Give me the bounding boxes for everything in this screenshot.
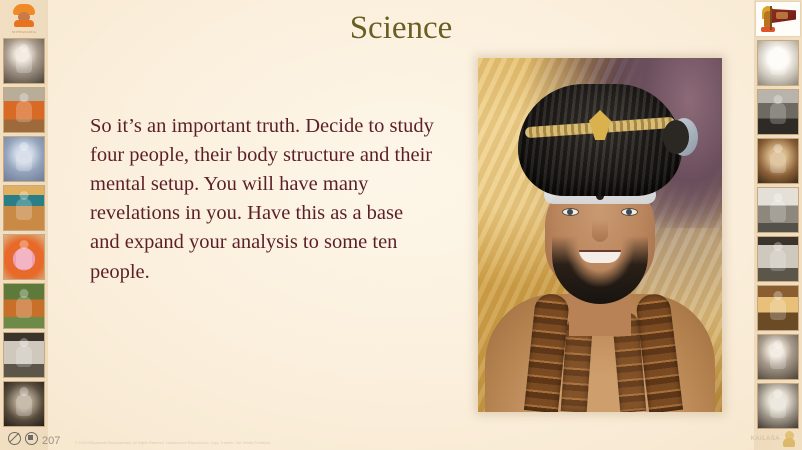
portrait-smile bbox=[579, 250, 621, 263]
license-icons bbox=[8, 432, 38, 445]
thumbnail-figure bbox=[16, 100, 32, 122]
thumbnail-saint-5[interactable] bbox=[757, 236, 799, 282]
right-thumbnail-strip bbox=[757, 40, 799, 429]
thumbnail-image bbox=[4, 39, 44, 83]
thumbnail-image bbox=[758, 384, 798, 428]
thumbnail-image bbox=[4, 333, 44, 377]
thumbnail-saint-8[interactable] bbox=[757, 383, 799, 429]
thumbnail-lineage-8[interactable] bbox=[3, 381, 45, 427]
thumbnail-lineage-6[interactable] bbox=[3, 283, 45, 329]
right-sidebar bbox=[754, 0, 802, 450]
thumbnail-image bbox=[758, 90, 798, 134]
thumbnail-image bbox=[4, 382, 44, 426]
thumbnail-image bbox=[4, 284, 44, 328]
thumbnail-figure bbox=[770, 347, 786, 369]
left-thumbnail-strip bbox=[3, 38, 45, 427]
thumbnail-figure bbox=[16, 394, 32, 416]
thumbnail-figure bbox=[770, 249, 786, 271]
thumbnail-lineage-1[interactable] bbox=[3, 38, 45, 84]
deity-and-flag-logo[interactable] bbox=[755, 1, 801, 37]
slide-footer: 207 © 2015 Nithyananda Dhyanapeetam. All… bbox=[0, 424, 802, 450]
page-number: 207 bbox=[42, 435, 60, 447]
portrait-eye-right bbox=[621, 208, 638, 216]
thumbnail-image bbox=[4, 137, 44, 181]
kailasa-logo-icon bbox=[782, 431, 796, 447]
thumbnail-lineage-3[interactable] bbox=[3, 136, 45, 182]
presentation-slide: NITHYANANDA Science So it’s an important… bbox=[0, 0, 802, 450]
thumbnail-figure bbox=[770, 53, 786, 75]
thumbnail-figure bbox=[16, 247, 32, 269]
thumbnail-lineage-2[interactable] bbox=[3, 87, 45, 133]
crescent-moon-ornament-icon bbox=[670, 118, 698, 156]
swami-logo-shape bbox=[11, 4, 37, 26]
kailasa-brand: KAILASA bbox=[751, 431, 796, 447]
thumbnail-image bbox=[758, 286, 798, 330]
slide-body-text: So it’s an important truth. Decide to st… bbox=[90, 112, 435, 287]
thumbnail-figure bbox=[16, 149, 32, 171]
thumbnail-image bbox=[758, 335, 798, 379]
flag-icon bbox=[772, 9, 796, 23]
thumbnail-saint-3[interactable] bbox=[757, 138, 799, 184]
thumbnail-figure bbox=[770, 200, 786, 222]
no-derivatives-icon bbox=[25, 432, 38, 445]
thumbnail-lineage-7[interactable] bbox=[3, 332, 45, 378]
thumbnail-image bbox=[758, 188, 798, 232]
thumbnail-figure bbox=[16, 198, 32, 220]
guru-portrait-photo bbox=[478, 58, 722, 412]
thumbnail-image bbox=[4, 88, 44, 132]
swami-logo-icon[interactable]: NITHYANANDA bbox=[2, 1, 46, 35]
thumbnail-image bbox=[4, 186, 44, 230]
brand-name: KAILASA bbox=[751, 436, 780, 442]
thumbnail-image bbox=[758, 237, 798, 281]
flag-pole-icon bbox=[770, 6, 772, 30]
thumbnail-image bbox=[758, 139, 798, 183]
thumbnail-figure bbox=[16, 296, 32, 318]
no-commercial-use-icon bbox=[8, 432, 21, 445]
thumbnail-image bbox=[758, 41, 798, 85]
thumbnail-saint-4[interactable] bbox=[757, 187, 799, 233]
thumbnail-saint-1[interactable] bbox=[757, 40, 799, 86]
portrait-eye-left bbox=[562, 208, 579, 216]
left-sidebar: NITHYANANDA bbox=[0, 0, 48, 450]
thumbnail-lineage-5[interactable] bbox=[3, 234, 45, 280]
thumbnail-saint-6[interactable] bbox=[757, 285, 799, 331]
thumbnail-saint-2[interactable] bbox=[757, 89, 799, 135]
thumbnail-figure bbox=[770, 396, 786, 418]
thumbnail-figure bbox=[770, 151, 786, 173]
thumbnail-figure bbox=[16, 51, 32, 73]
thumbnail-figure bbox=[770, 298, 786, 320]
thumbnail-figure bbox=[770, 102, 786, 124]
thumbnail-figure bbox=[16, 345, 32, 367]
thumbnail-saint-7[interactable] bbox=[757, 334, 799, 380]
swami-logo-caption: NITHYANANDA bbox=[2, 30, 46, 34]
copyright-notice: © 2015 Nithyananda Dhyanapeetam. All Rig… bbox=[75, 441, 271, 445]
portrait-dreadlock-turban bbox=[518, 84, 682, 196]
thumbnail-lineage-4[interactable] bbox=[3, 185, 45, 231]
portrait-nose bbox=[592, 220, 608, 242]
thumbnail-image bbox=[4, 235, 44, 279]
slide-title: Science bbox=[48, 12, 754, 45]
